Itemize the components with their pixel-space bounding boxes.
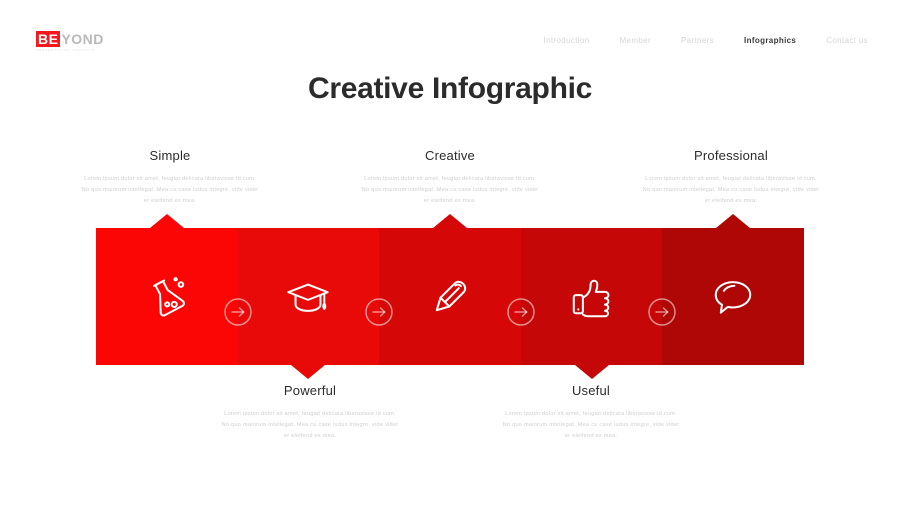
- caption-powerful: Powerful Lorem ipsum dolor sit amet, feu…: [175, 383, 445, 442]
- caption-simple: Simple Lorem ipsum dolor sit amet, feugi…: [35, 148, 305, 207]
- caption-title: Powerful: [175, 383, 445, 398]
- caption-creative: Creative Lorem ipsum dolor sit amet, feu…: [315, 148, 585, 207]
- notch-down-triangle: [575, 365, 609, 379]
- panel-useful[interactable]: [521, 228, 663, 365]
- notch-down-triangle: [291, 365, 325, 379]
- graduation-cap-icon: [281, 270, 335, 324]
- caption-line-2: No quo maiorum intellegat. Mea cu case l…: [596, 185, 866, 196]
- arrow-connector-4: [646, 296, 678, 328]
- thumbs-up-icon: [565, 270, 619, 324]
- caption-line-3: er eleifend ex mea.: [35, 196, 305, 207]
- caption-body: Lorem ipsum dolor sit amet, feugiat deli…: [315, 174, 585, 207]
- caption-line-2: No quo maiorum intellegat. Mea cu case l…: [456, 420, 726, 431]
- arrow-connector-1: [222, 296, 254, 328]
- arrow-right-circle-icon: [646, 296, 678, 328]
- arrow-right-circle-icon: [363, 296, 395, 328]
- caption-body: Lorem ipsum dolor sit amet, feugiat deli…: [175, 409, 445, 442]
- notch-up-triangle: [716, 214, 750, 228]
- caption-line-2: No quo maiorum intellegat. Mea cu case l…: [315, 185, 585, 196]
- speech-bubble-icon: [706, 270, 760, 324]
- caption-line-1: Lorem ipsum dolor sit amet, feugiat deli…: [35, 174, 305, 185]
- flask-icon: [140, 270, 194, 324]
- caption-line-1: Lorem ipsum dolor sit amet, feugiat deli…: [596, 174, 866, 185]
- caption-body: Lorem ipsum dolor sit amet, feugiat deli…: [596, 174, 866, 207]
- caption-professional: Professional Lorem ipsum dolor sit amet,…: [596, 148, 866, 207]
- caption-line-1: Lorem ipsum dolor sit amet, feugiat deli…: [315, 174, 585, 185]
- notch-up-triangle: [433, 214, 467, 228]
- arrow-connector-2: [363, 296, 395, 328]
- caption-title: Simple: [35, 148, 305, 163]
- arrow-right-circle-icon: [505, 296, 537, 328]
- caption-line-1: Lorem ipsum dolor sit amet, feugiat deli…: [175, 409, 445, 420]
- caption-line-3: er eleifend ex mea.: [315, 196, 585, 207]
- notch-up-triangle: [150, 214, 184, 228]
- caption-line-1: Lorem ipsum dolor sit amet, feugiat deli…: [456, 409, 726, 420]
- caption-body: Lorem ipsum dolor sit amet, feugiat deli…: [456, 409, 726, 442]
- pencil-icon: [423, 270, 477, 324]
- arrow-right-circle-icon: [222, 296, 254, 328]
- caption-useful: Useful Lorem ipsum dolor sit amet, feugi…: [456, 383, 726, 442]
- panel-creative[interactable]: [379, 228, 521, 365]
- caption-title: Creative: [315, 148, 585, 163]
- caption-line-3: er eleifend ex mea.: [596, 196, 866, 207]
- arrow-connector-3: [505, 296, 537, 328]
- caption-line-3: er eleifend ex mea.: [456, 431, 726, 442]
- panel-simple[interactable]: [96, 228, 238, 365]
- caption-title: Professional: [596, 148, 866, 163]
- panel-band: [96, 228, 804, 365]
- caption-line-3: er eleifend ex mea.: [175, 431, 445, 442]
- panel-powerful[interactable]: [238, 228, 380, 365]
- caption-line-2: No quo maiorum intellegat. Mea cu case l…: [175, 420, 445, 431]
- panel-professional[interactable]: [662, 228, 804, 365]
- caption-line-2: No quo maiorum intellegat. Mea cu case l…: [35, 185, 305, 196]
- caption-body: Lorem ipsum dolor sit amet, feugiat deli…: [35, 174, 305, 207]
- infographic-stage: Simple Lorem ipsum dolor sit amet, feugi…: [0, 0, 900, 506]
- caption-title: Useful: [456, 383, 726, 398]
